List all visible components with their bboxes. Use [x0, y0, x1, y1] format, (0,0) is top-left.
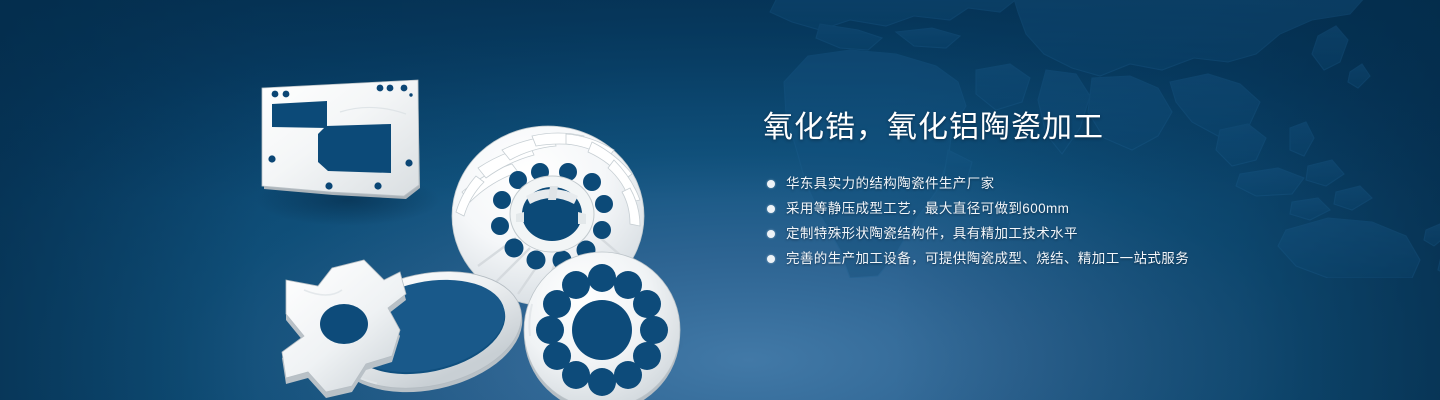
feature-list: 华东具实力的结构陶瓷件生产厂家 采用等静压成型工艺，最大直径可做到600mm 定…	[763, 173, 1323, 270]
promo-copy: 氧化锆，氧化铝陶瓷加工 华东具实力的结构陶瓷件生产厂家 采用等静压成型工艺，最大…	[763, 108, 1323, 273]
bullet-dot-icon	[767, 255, 775, 263]
bullet-dot-icon	[767, 230, 775, 238]
list-item: 完善的生产加工设备，可提供陶瓷成型、烧结、精加工一站式服务	[763, 248, 1323, 270]
ceramic-perforated-disc	[524, 252, 680, 400]
promo-banner: 氧化锆，氧化铝陶瓷加工 华东具实力的结构陶瓷件生产厂家 采用等静压成型工艺，最大…	[0, 0, 1440, 400]
ceramic-products-image	[230, 38, 700, 398]
list-item-label: 华东具实力的结构陶瓷件生产厂家	[786, 173, 995, 195]
list-item: 华东具实力的结构陶瓷件生产厂家	[763, 173, 1323, 195]
bullet-dot-icon	[767, 205, 775, 213]
bullet-dot-icon	[767, 180, 775, 188]
ceramic-plate-with-cutouts	[262, 80, 420, 199]
list-item-label: 采用等静压成型工艺，最大直径可做到600mm	[786, 198, 1069, 220]
list-item: 采用等静压成型工艺，最大直径可做到600mm	[763, 198, 1323, 220]
page-title: 氧化锆，氧化铝陶瓷加工	[763, 108, 1323, 148]
list-item-label: 定制特殊形状陶瓷结构件，具有精加工技术水平	[786, 223, 1078, 245]
list-item: 定制特殊形状陶瓷结构件，具有精加工技术水平	[763, 223, 1323, 245]
list-item-label: 完善的生产加工设备，可提供陶瓷成型、烧结、精加工一站式服务	[786, 248, 1189, 270]
